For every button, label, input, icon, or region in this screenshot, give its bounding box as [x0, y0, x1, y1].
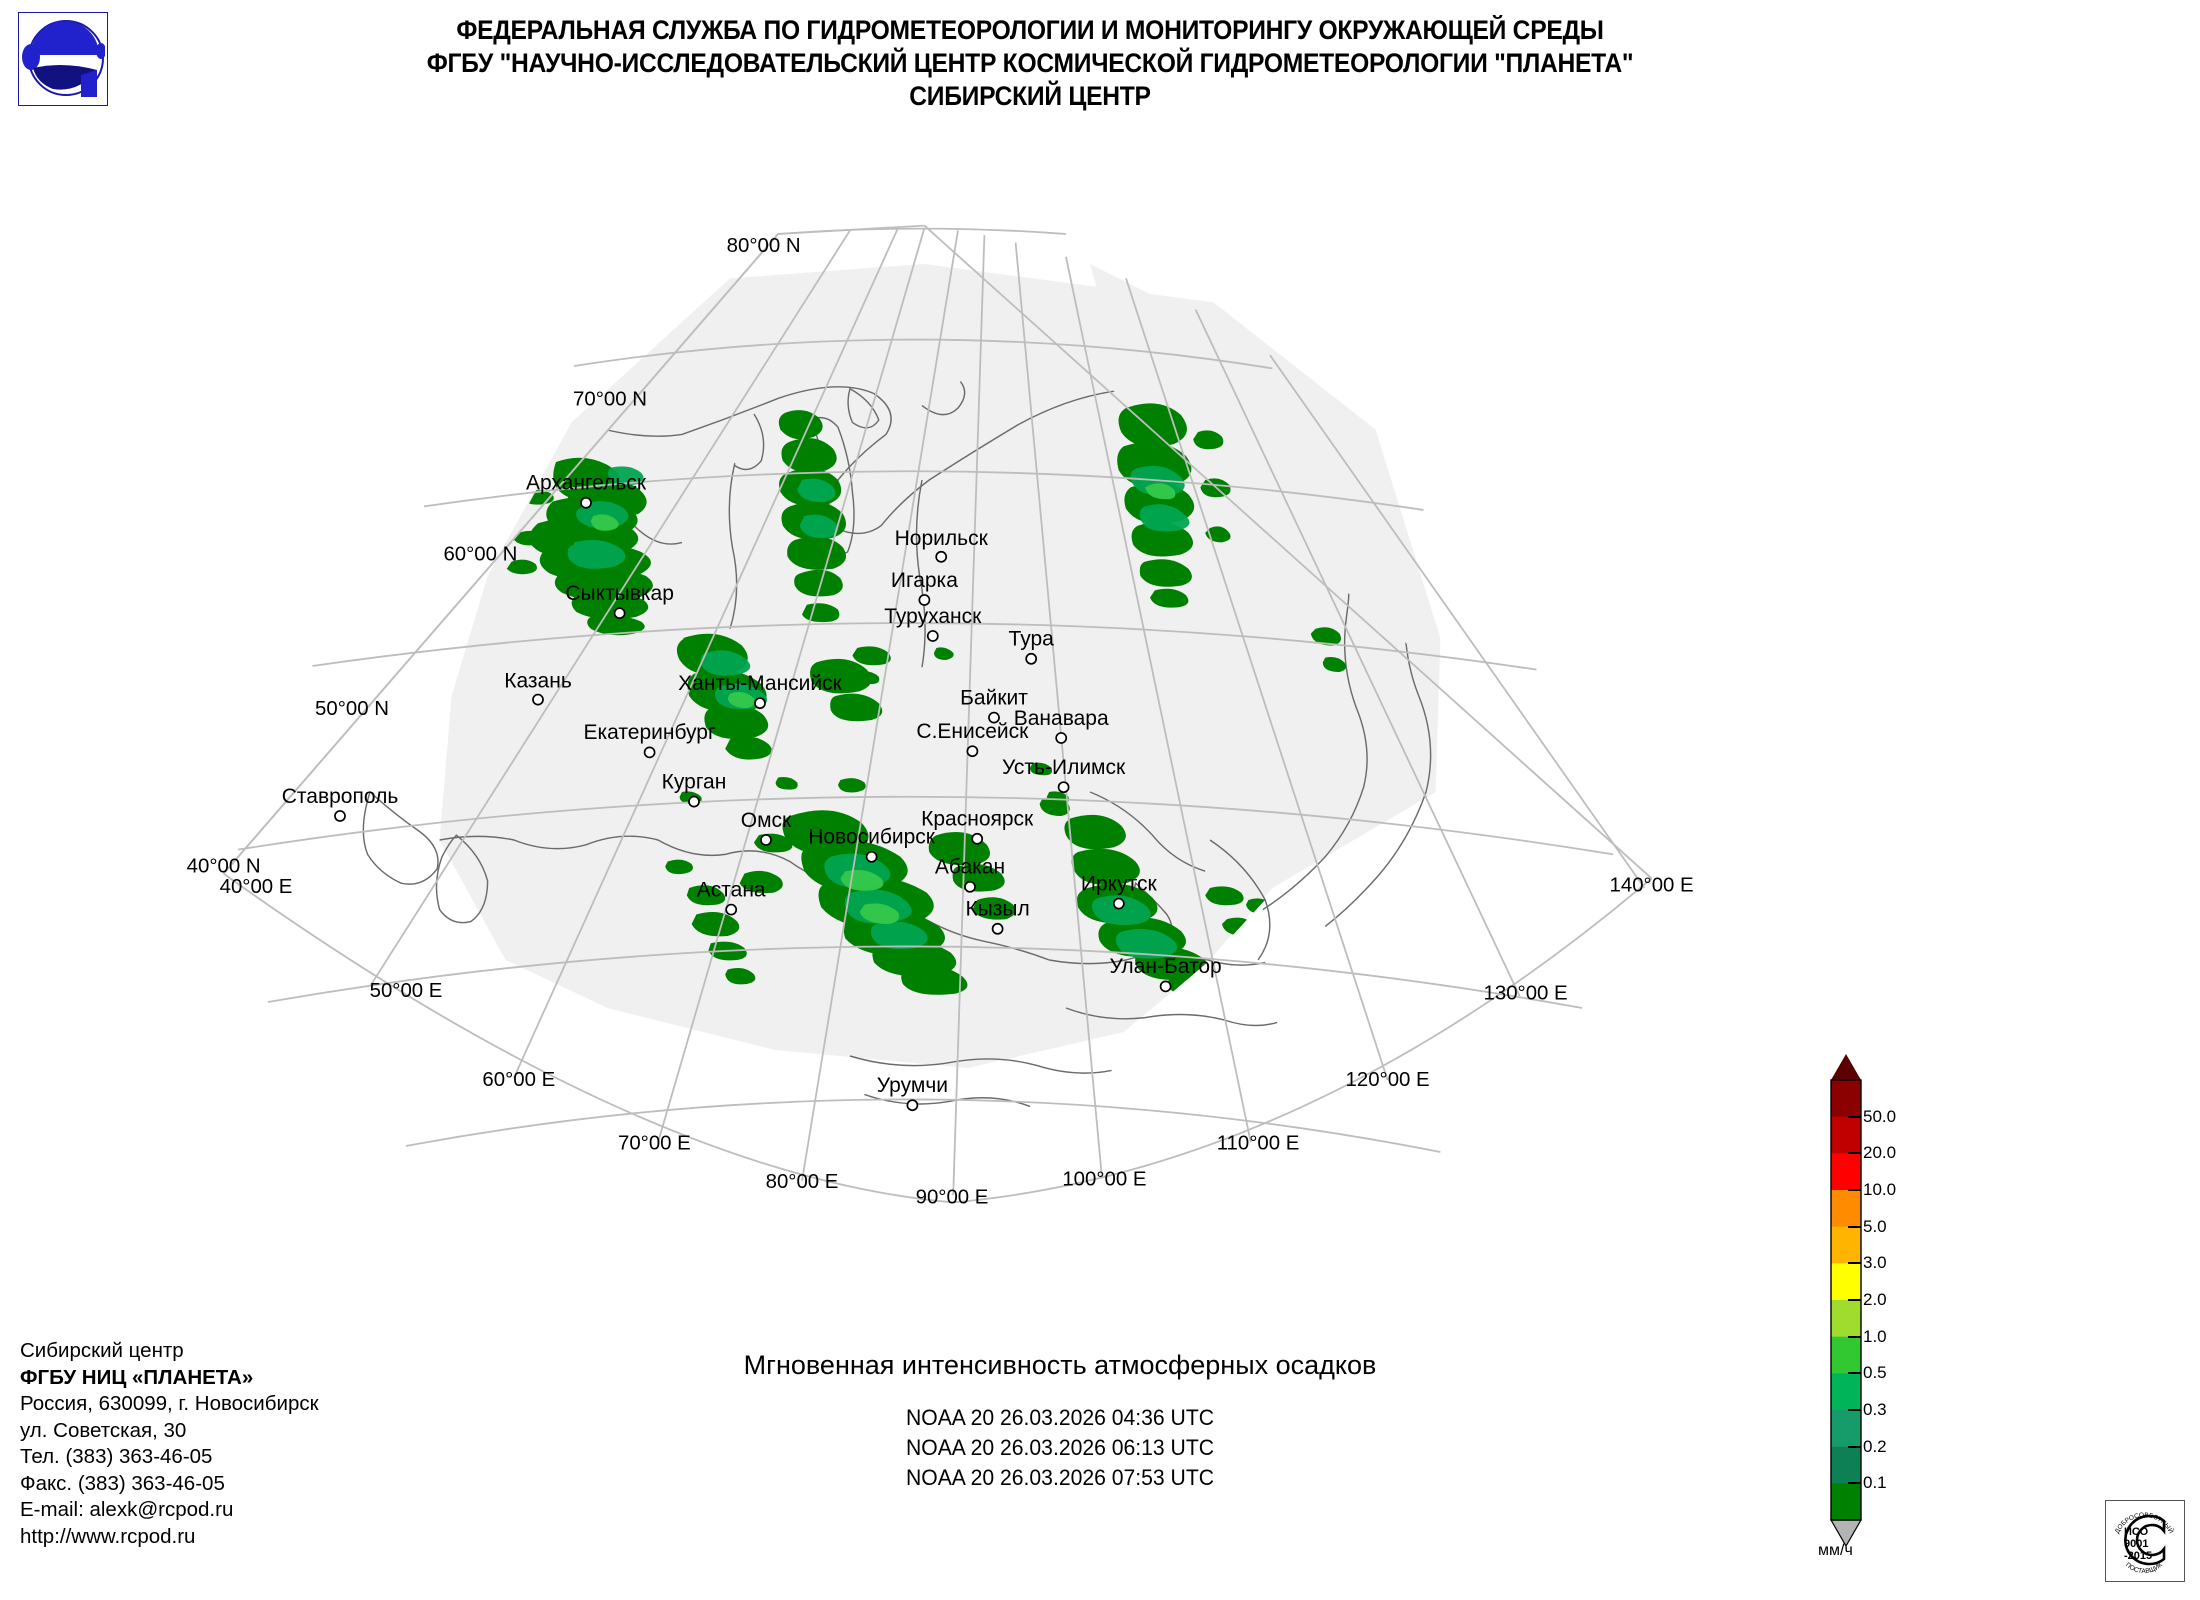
satellite-pass-3: NOAA 20 26.03.2026 07:53 UTC: [590, 1463, 1530, 1493]
contact-phone: Тел. (383) 363-46-05: [20, 1444, 319, 1471]
city-marker-icon: [645, 747, 655, 757]
city-label: Норильск: [895, 527, 989, 550]
iso-9001-badge: ДОБРОСОВЕСТНЫЙ ПОСТАВЩИК ИСО 9001 -2015: [2105, 1500, 2185, 1582]
city-marker-icon: [967, 746, 977, 756]
colorbar-tick-label: 5.0: [1863, 1217, 1887, 1237]
city-label: Омск: [741, 809, 792, 832]
graticule-label: 40°00 N: [187, 855, 261, 877]
colorbar-tick-label: 10.0: [1863, 1180, 1896, 1200]
colorbar-tick-mark: [1848, 1409, 1861, 1411]
graticule-label: 50°00 N: [315, 698, 389, 720]
colorbar-tick-mark: [1848, 1226, 1861, 1228]
graticule-label: 80°00 N: [727, 235, 801, 257]
colorbar-tick-label: 0.2: [1863, 1437, 1887, 1457]
graticule-label: 110°00 E: [1217, 1133, 1300, 1155]
city-marker-icon: [335, 811, 345, 821]
city-label: Туруханск: [884, 605, 982, 628]
satellite-pass-list: NOAA 20 26.03.2026 04:36 UTC NOAA 20 26.…: [590, 1403, 1530, 1493]
colorbar-tick-mark: [1848, 1336, 1861, 1338]
colorbar-tick-mark: [1848, 1446, 1861, 1448]
graticule-label: 100°00 E: [1062, 1169, 1146, 1191]
city-label: Курган: [662, 770, 727, 793]
colorbar-tick-label: 20.0: [1863, 1143, 1896, 1163]
city-marker-icon: [972, 834, 982, 844]
city-marker-icon: [965, 882, 975, 892]
graticule-label: 120°00 E: [1346, 1069, 1430, 1091]
city-marker-icon: [1056, 733, 1066, 743]
graticule-label: 50°00 E: [370, 980, 443, 1002]
colorbar-tick-label: 0.5: [1863, 1363, 1887, 1383]
city-label: Казань: [504, 670, 572, 693]
map-caption-title: Мгновенная интенсивность атмосферных оса…: [560, 1350, 1560, 1381]
colorbar-tick-mark: [1848, 1482, 1861, 1484]
contact-line-3: Россия, 630099, г. Новосибирск: [20, 1391, 319, 1418]
roshydromet-planeta-logo: [18, 12, 108, 106]
city-marker-icon: [1026, 654, 1036, 664]
satellite-pass-2: NOAA 20 26.03.2026 06:13 UTC: [590, 1433, 1530, 1463]
colorbar-segment: [1831, 1373, 1861, 1410]
graticule-label: 70°00 N: [573, 389, 647, 411]
colorbar-segment: [1831, 1300, 1861, 1337]
colorbar-tick-label: 1.0: [1863, 1327, 1887, 1347]
city-label: Улан-Батор: [1109, 955, 1221, 978]
city-label: Новосибирск: [808, 826, 936, 849]
city-label: Кызыл: [965, 898, 1029, 921]
colorbar-tick-mark: [1848, 1372, 1861, 1374]
city-marker-icon: [1161, 981, 1171, 991]
city-marker-icon: [993, 924, 1003, 934]
contact-fax: Факс. (383) 363-46-05: [20, 1471, 319, 1498]
city-label: Абакан: [935, 856, 1005, 879]
colorbar-tick-mark: [1848, 1152, 1861, 1154]
city-marker-icon: [928, 631, 938, 641]
contact-line-1: Сибирский центр: [20, 1338, 319, 1365]
graticule-label: 80°00 E: [766, 1171, 839, 1193]
colorbar-segment: [1831, 1190, 1861, 1227]
contact-website[interactable]: http://www.rcpod.ru: [20, 1524, 319, 1551]
contact-block: Сибирский центр ФГБУ НИЦ «ПЛАНЕТА» Росси…: [20, 1338, 319, 1550]
city-label: Урумчи: [877, 1074, 948, 1097]
svg-text:9001: 9001: [2124, 1538, 2148, 1550]
colorbar-segment: [1831, 1263, 1861, 1300]
page-title: ФЕДЕРАЛЬНАЯ СЛУЖБА ПО ГИДРОМЕТЕОРОЛОГИИ …: [174, 14, 1885, 113]
colorbar-tick-mark: [1848, 1299, 1861, 1301]
city-label: Архангельск: [526, 472, 647, 495]
colorbar-segment: [1831, 1080, 1861, 1117]
satellite-pass-1: NOAA 20 26.03.2026 04:36 UTC: [590, 1403, 1530, 1433]
graticule-label: 90°00 E: [916, 1187, 989, 1209]
colorbar-tick-label: 3.0: [1863, 1253, 1887, 1273]
city-marker-icon: [533, 695, 543, 705]
graticule-label: 130°00 E: [1484, 983, 1568, 1005]
contact-line-2: ФГБУ НИЦ «ПЛАНЕТА»: [20, 1365, 319, 1392]
graticule-label: 70°00 E: [618, 1133, 691, 1155]
city-label: Сыктывкар: [565, 582, 674, 605]
org-title-line-3: СИБИРСКИЙ ЦЕНТР: [174, 80, 1885, 113]
city-label: Ставрополь: [282, 785, 399, 808]
colorbar-segment: [1831, 1337, 1861, 1374]
map-caption-block: Мгновенная интенсивность атмосферных оса…: [560, 1350, 1560, 1493]
colorbar-tick-mark: [1848, 1116, 1861, 1118]
colorbar-tick-mark: [1848, 1262, 1861, 1264]
precipitation-colorbar[interactable]: 50.020.010.05.03.02.01.00.50.30.20.1 мм/…: [1815, 1050, 2015, 1560]
colorbar-segment: [1831, 1153, 1861, 1190]
svg-text:-2015: -2015: [2124, 1550, 2152, 1562]
graticule-label: 40°00 E: [220, 876, 293, 898]
graticule-label: 140°00 E: [1610, 875, 1694, 897]
graticule-label: 60°00 N: [443, 543, 517, 565]
colorbar-tick-label: 0.3: [1863, 1400, 1887, 1420]
city-marker-icon: [936, 552, 946, 562]
colorbar-segment: [1831, 1410, 1861, 1447]
city-label: С.Енисейск: [916, 720, 1029, 743]
city-label: Усть-Илимск: [1002, 756, 1126, 779]
org-title-line-2: ФГБУ "НАУЧНО-ИССЛЕДОВАТЕЛЬСКИЙ ЦЕНТР КОС…: [174, 47, 1885, 80]
colorbar-segment: [1831, 1483, 1861, 1520]
city-label: Красноярск: [921, 808, 1034, 831]
colorbar-tick-mark: [1848, 1189, 1861, 1191]
city-label: Игарка: [891, 569, 958, 592]
city-label: Тура: [1009, 628, 1055, 651]
colorbar-over-arrow: [1831, 1054, 1861, 1080]
graticule-label: 60°00 E: [482, 1069, 555, 1091]
colorbar-segment: [1831, 1447, 1861, 1484]
city-marker-icon: [689, 797, 699, 807]
colorbar-tick-label: 0.1: [1863, 1473, 1887, 1493]
city-marker-icon: [761, 835, 771, 845]
city-marker-icon: [1059, 782, 1069, 792]
city-marker-icon: [907, 1100, 917, 1110]
city-label: Екатеринбург: [584, 721, 716, 744]
city-marker-icon: [581, 498, 591, 508]
page-header: ФЕДЕРАЛЬНАЯ СЛУЖБА ПО ГИДРОМЕТЕОРОЛОГИИ …: [0, 0, 2200, 130]
colorbar-segment: [1831, 1117, 1861, 1154]
org-title-line-1: ФЕДЕРАЛЬНАЯ СЛУЖБА ПО ГИДРОМЕТЕОРОЛОГИИ …: [174, 14, 1885, 47]
city-label: Ханты-Мансийск: [678, 672, 842, 695]
city-marker-icon: [919, 595, 929, 605]
city-marker-icon: [615, 608, 625, 618]
colorbar-segment: [1831, 1227, 1861, 1264]
city-marker-icon: [867, 852, 877, 862]
city-marker-icon: [1114, 899, 1124, 909]
colorbar-tick-label: 50.0: [1863, 1107, 1896, 1127]
city-label: Иркутск: [1081, 872, 1158, 895]
city-marker-icon: [755, 698, 765, 708]
colorbar-units-label: мм/ч: [1818, 1542, 1853, 1560]
city-label: Астана: [697, 878, 766, 901]
contact-email[interactable]: E-mail: alexk@rcpod.ru: [20, 1497, 319, 1524]
contact-line-4: ул. Советская, 30: [20, 1418, 319, 1445]
precipitation-map[interactable]: 80°00 N70°00 N60°00 N50°00 N40°00 N40°00…: [0, 120, 1820, 1320]
city-marker-icon: [726, 905, 736, 915]
colorbar-tick-label: 2.0: [1863, 1290, 1887, 1310]
svg-text:ИСО: ИСО: [2124, 1526, 2149, 1538]
